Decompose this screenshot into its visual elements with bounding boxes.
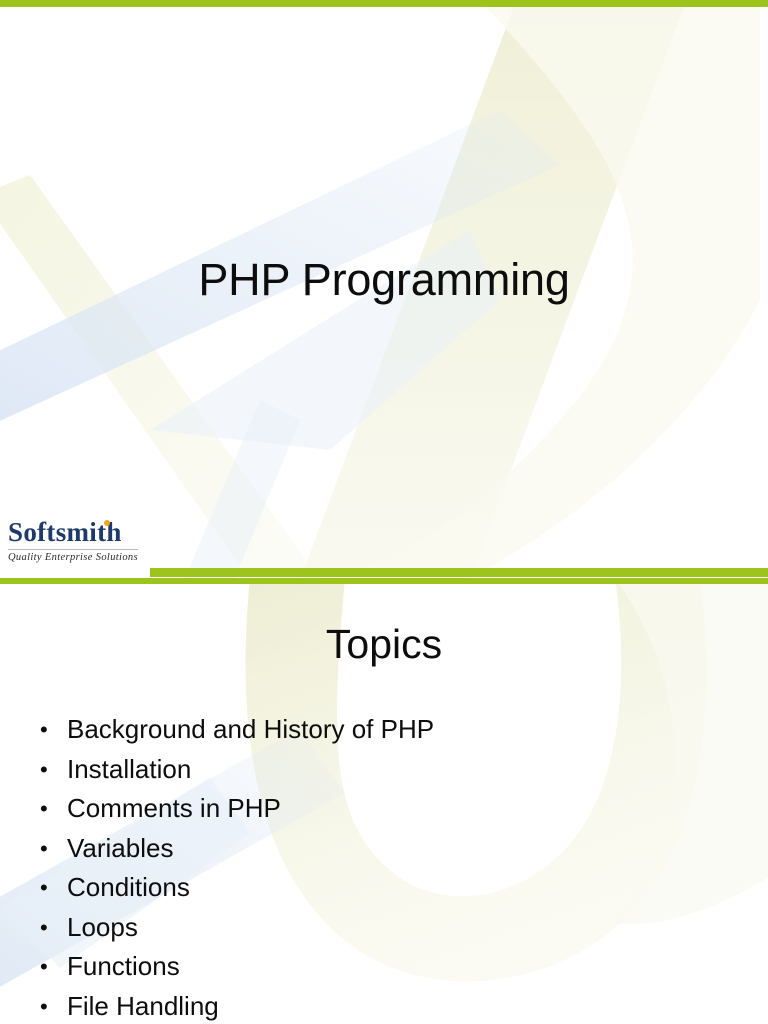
list-item: • File Handling xyxy=(40,987,680,1024)
list-item-label: Conditions xyxy=(67,868,190,908)
bullet-icon: • xyxy=(40,829,67,869)
bullet-icon: • xyxy=(40,987,67,1024)
bullet-icon: • xyxy=(40,789,67,829)
list-item-label: Installation xyxy=(67,750,191,790)
slide1-title: PHP Programming xyxy=(0,255,768,305)
bullet-icon: • xyxy=(40,947,67,987)
list-item: • Conditions xyxy=(40,868,680,908)
bullet-icon: • xyxy=(40,868,67,908)
list-item: • Functions xyxy=(40,947,680,987)
slide2-top-green-rule xyxy=(0,578,768,584)
list-item: • Variables xyxy=(40,829,680,869)
logo-wordmark: Softsmith xyxy=(8,518,142,546)
slide-deck-page: PHP Programming Softsmith Quality Enterp… xyxy=(0,0,768,1024)
slide-title: PHP Programming Softsmith Quality Enterp… xyxy=(0,0,768,578)
logo-orange-dot-icon xyxy=(104,520,110,526)
list-item: • Comments in PHP xyxy=(40,789,680,829)
slide2-title: Topics xyxy=(0,622,768,667)
blue-swoosh-tail xyxy=(185,400,300,578)
list-item: • Installation xyxy=(40,750,680,790)
list-item-label: Functions xyxy=(67,947,180,987)
bullet-icon: • xyxy=(40,908,67,948)
list-item-label: Comments in PHP xyxy=(67,789,281,829)
slide1-bottom-green-rule xyxy=(150,568,768,577)
slide1-top-green-rule xyxy=(0,0,768,7)
bullet-icon: • xyxy=(40,750,67,790)
list-item: • Background and History of PHP xyxy=(40,710,680,750)
list-item: • Loops xyxy=(40,908,680,948)
logo-tagline: Quality Enterprise Solutions xyxy=(8,552,142,563)
list-item-label: Background and History of PHP xyxy=(67,710,434,750)
bullet-icon: • xyxy=(40,710,67,750)
softsmith-logo: Softsmith Quality Enterprise Solutions xyxy=(0,508,150,578)
list-item-label: File Handling xyxy=(67,987,219,1024)
topics-list: • Background and History of PHP • Instal… xyxy=(40,710,680,1024)
slide-topics: Topics • Background and History of PHP •… xyxy=(0,578,768,1024)
list-item-label: Loops xyxy=(67,908,138,948)
list-item-label: Variables xyxy=(67,829,173,869)
logo-divider xyxy=(8,549,138,550)
